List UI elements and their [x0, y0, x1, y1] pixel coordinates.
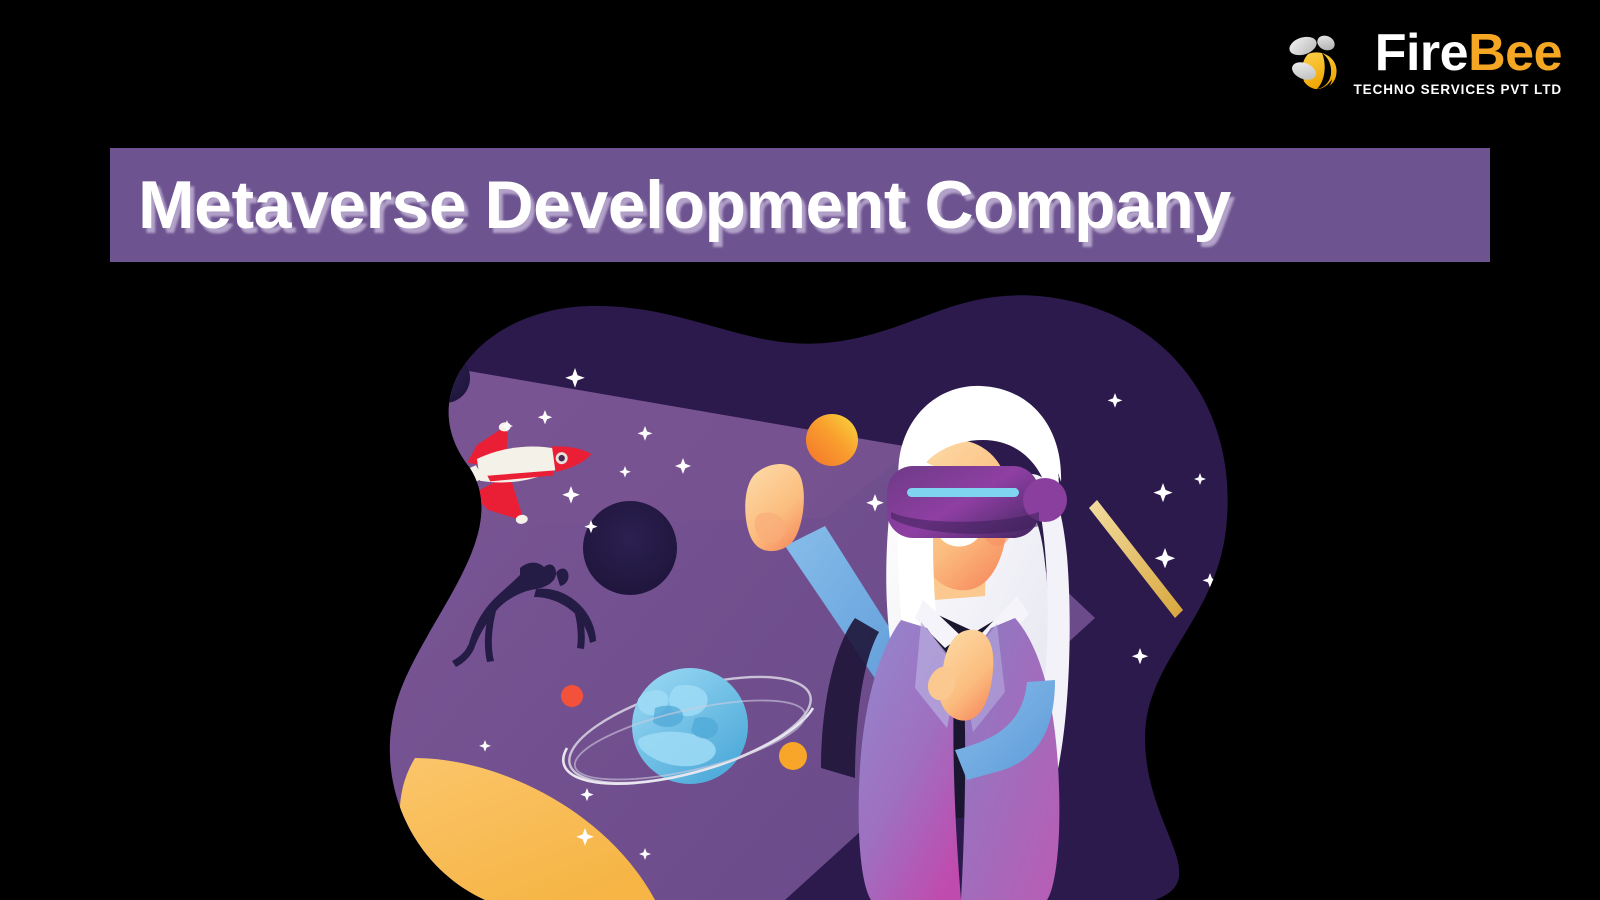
orbit-dot-orange [779, 742, 807, 770]
bee-icon [1288, 32, 1344, 94]
dark-planet-small [420, 353, 470, 403]
logo-wordmark: FireBee TECHNO SERVICES PVT LTD [1354, 28, 1562, 97]
dark-planet-large [583, 501, 677, 595]
page-title: Metaverse Development Company [138, 166, 1231, 244]
metaverse-illustration [355, 288, 1255, 900]
comet-lower [1165, 688, 1235, 785]
illustration-svg [355, 288, 1255, 900]
logo-tagline: TECHNO SERVICES PVT LTD [1354, 82, 1562, 97]
sun-sphere [806, 414, 858, 466]
firebee-logo[interactable]: FireBee TECHNO SERVICES PVT LTD [1288, 28, 1562, 97]
orbit-dot-red [561, 685, 583, 707]
poster-canvas: FireBee TECHNO SERVICES PVT LTD Metavers… [0, 0, 1600, 900]
headset-screen-stripe [907, 488, 1019, 497]
logo-word-fire: Fire [1375, 24, 1468, 82]
title-banner: Metaverse Development Company [110, 148, 1490, 262]
logo-word-bee: Bee [1468, 24, 1562, 82]
